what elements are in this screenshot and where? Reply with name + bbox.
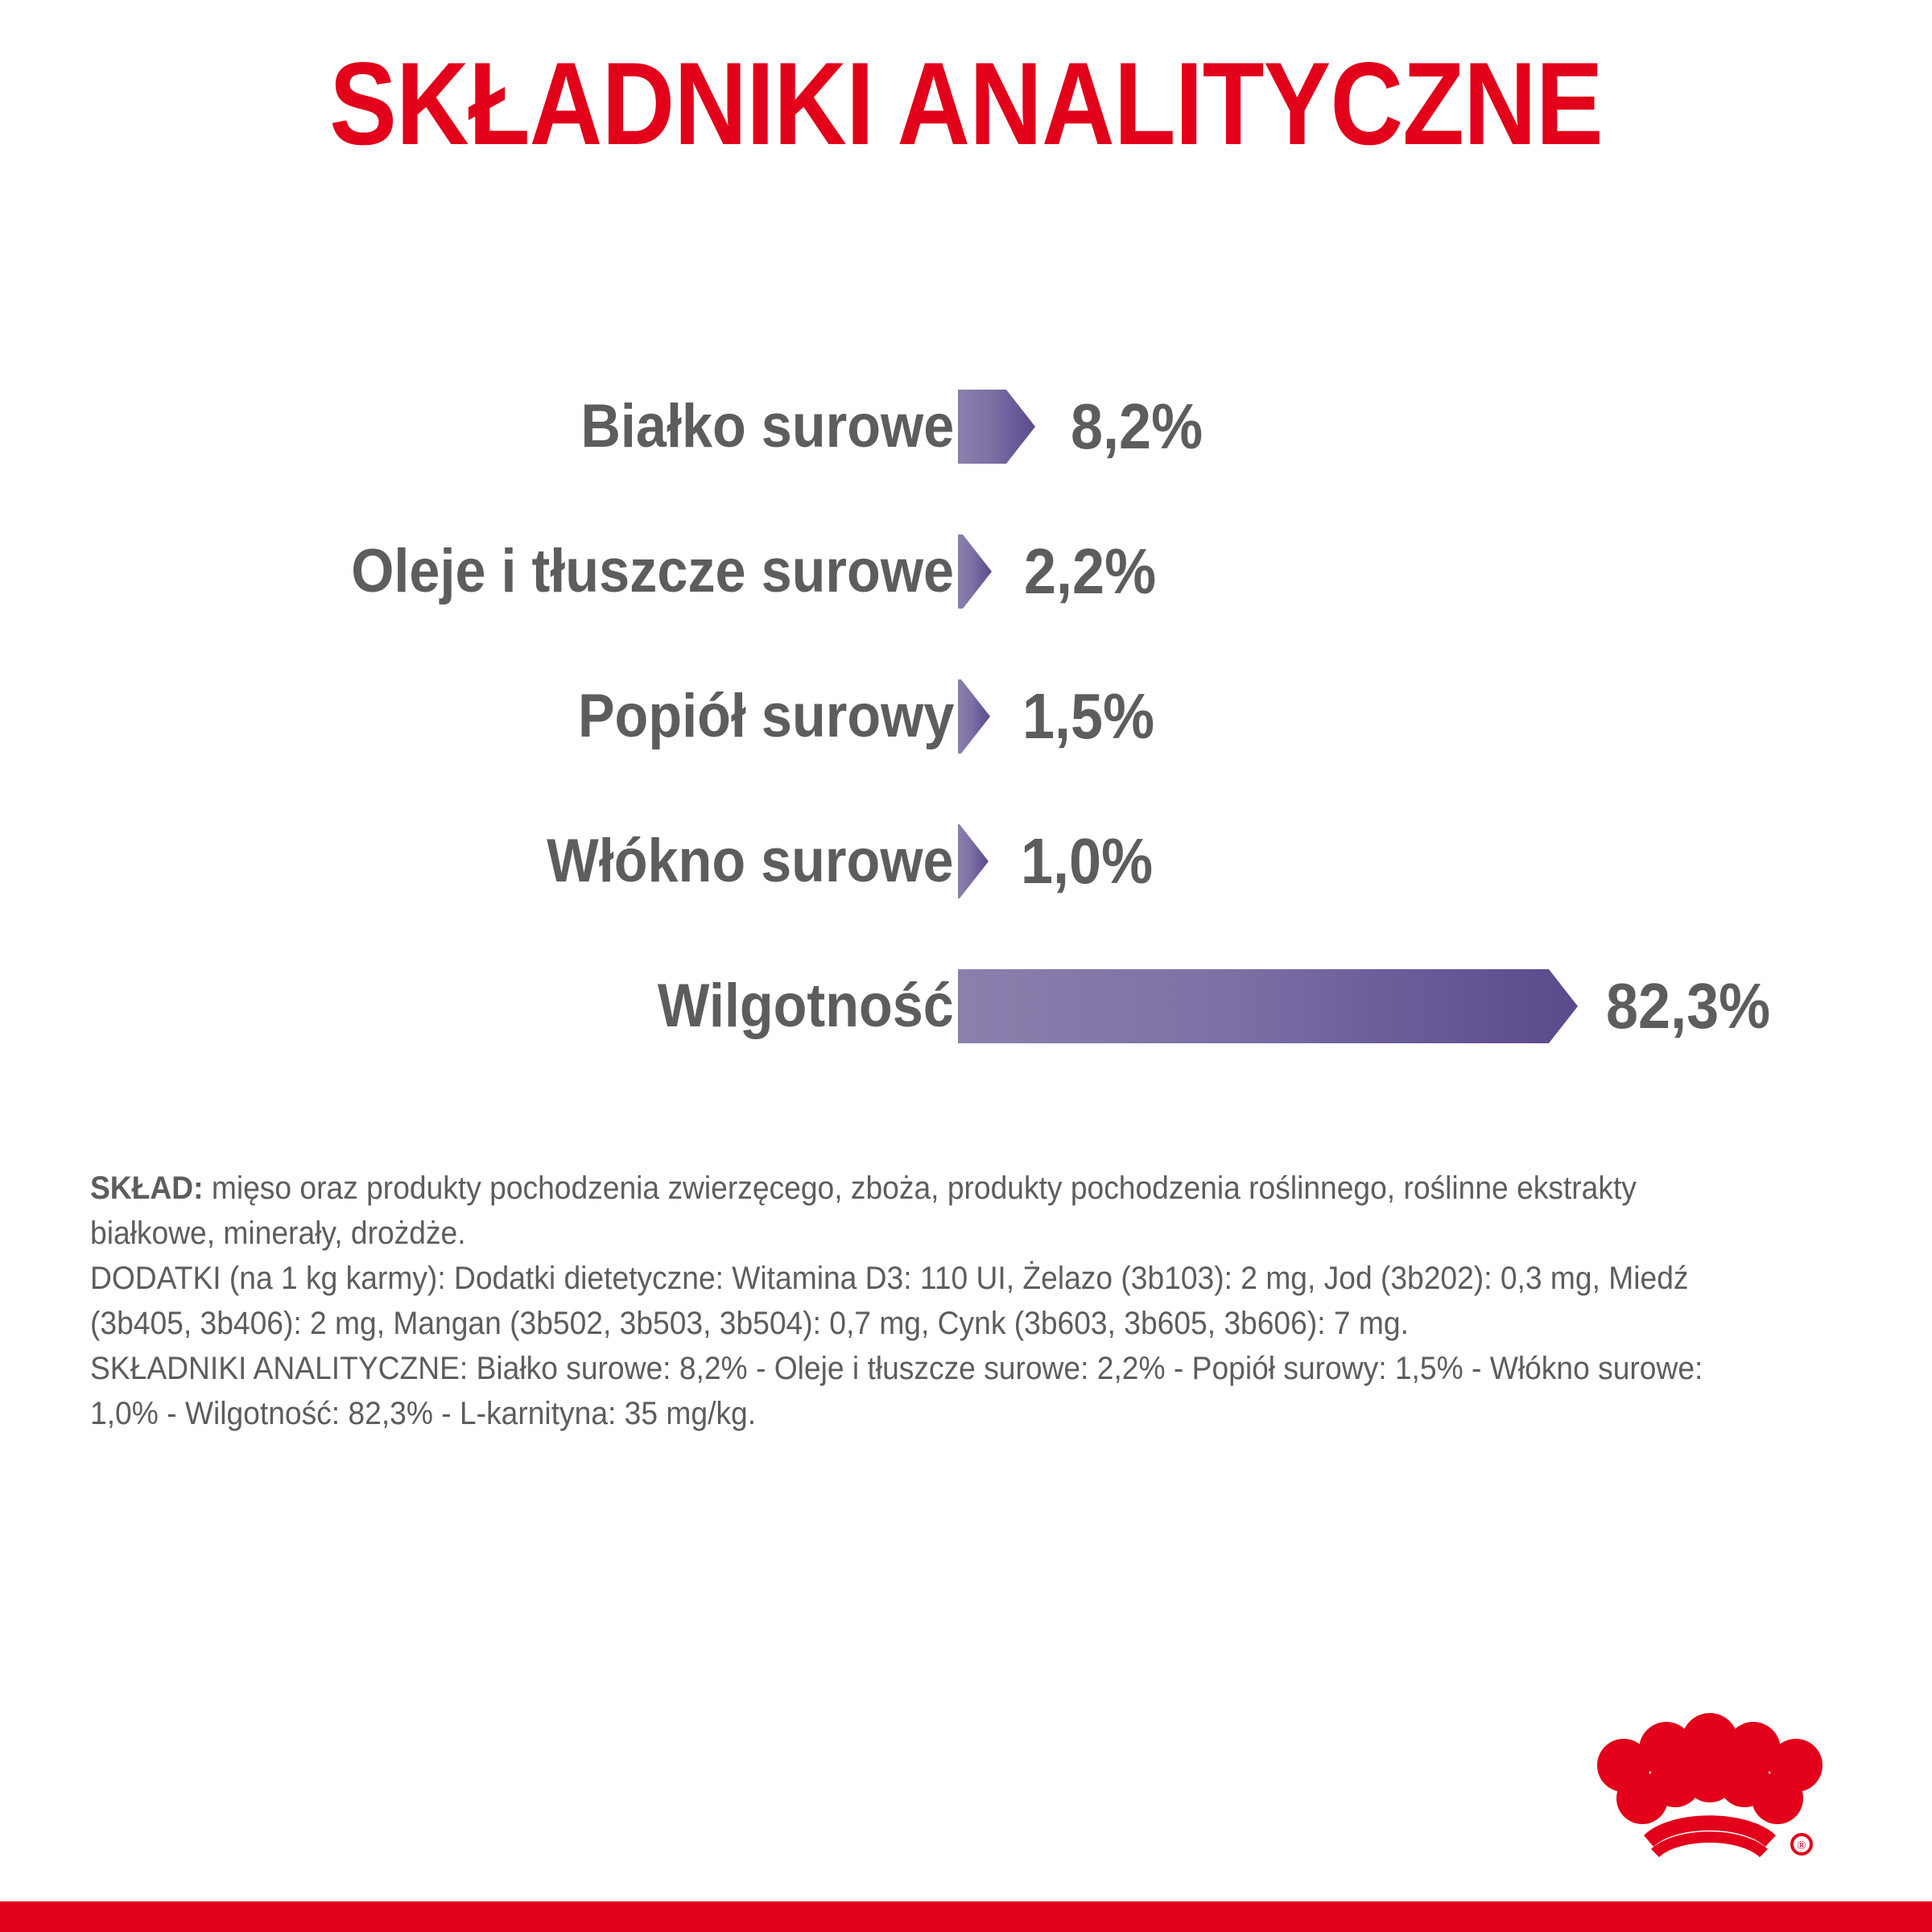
- bar-fill: [958, 969, 1578, 1043]
- composition-lead-label: SKŁAD:: [90, 1170, 204, 1206]
- nutrient-bar-fat: [958, 535, 992, 609]
- nutrient-label-moisture: Wilgotność: [658, 976, 954, 1037]
- bottom-accent-band: [0, 1901, 1932, 1932]
- nutrient-value-fibre: 1,0%: [1021, 829, 1153, 894]
- nutrient-row: Włókno surowe 1,0%: [0, 789, 1932, 934]
- crown-icon: ®: [1570, 1695, 1843, 1868]
- nutrient-row: Wilgotność 82,3%: [0, 934, 1932, 1079]
- composition-ingredients-text: mięso oraz produkty pochodzenia zwierzęc…: [90, 1170, 1637, 1251]
- bar-fill: [958, 535, 992, 609]
- bar-fill: [958, 679, 990, 753]
- nutrient-value-moisture: 82,3%: [1606, 974, 1770, 1038]
- nutrient-label-fibre: Włókno surowe: [547, 831, 954, 892]
- bar-fill: [958, 390, 1035, 464]
- nutrient-label-ash: Popiół surowy: [578, 686, 954, 747]
- nutrient-value-protein: 8,2%: [1071, 394, 1203, 459]
- nutrient-value-ash: 1,5%: [1022, 684, 1154, 749]
- royal-canin-logo: ®: [1570, 1695, 1843, 1868]
- nutrient-row: Białko surowe 8,2%: [0, 354, 1932, 499]
- nutrient-bar-ash: [958, 679, 990, 753]
- registered-mark: ®: [1797, 1839, 1806, 1852]
- nutrient-label-protein: Białko surowe: [580, 396, 954, 457]
- composition-ingredients-paragraph: SKŁAD: mięso oraz produkty pochodzenia z…: [90, 1166, 1730, 1256]
- nutrient-bar-fibre: [958, 824, 989, 898]
- analytical-constituents-chart: Białko surowe 8,2% Oleje i tłuszcze suro…: [0, 354, 1932, 1079]
- page-title: SKŁADNIKI ANALITYCZNE: [135, 42, 1797, 165]
- nutrient-label-fat: Oleje i tłuszcze surowe: [351, 541, 954, 602]
- composition-analytical-paragraph: SKŁADNIKI ANALITYCZNE: Białko surowe: 8,…: [90, 1346, 1730, 1436]
- nutrient-bar-protein: [958, 390, 1035, 464]
- bar-fill: [958, 824, 989, 898]
- nutrient-row: Popiół surowy 1,5%: [0, 644, 1932, 789]
- composition-additives-paragraph: DODATKI (na 1 kg karmy): Dodatki dietety…: [90, 1256, 1730, 1346]
- nutrient-bar-moisture: [958, 969, 1578, 1043]
- nutrient-value-fat: 2,2%: [1024, 539, 1156, 604]
- nutrient-row: Oleje i tłuszcze surowe 2,2%: [0, 499, 1932, 644]
- composition-block: SKŁAD: mięso oraz produkty pochodzenia z…: [90, 1166, 1730, 1436]
